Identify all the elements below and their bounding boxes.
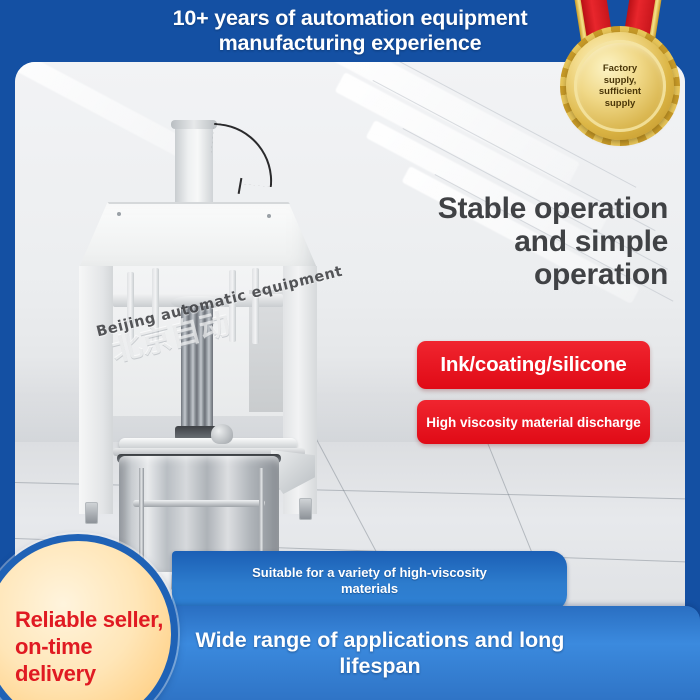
hood-bolt xyxy=(267,214,271,218)
main-headline: Stable operation and simple operation xyxy=(398,192,668,291)
machine-mast-cap xyxy=(171,120,217,129)
discharge-valve xyxy=(211,424,233,444)
machine-mast xyxy=(175,120,213,208)
panel-suitable-materials: Suitable for a variety of high-viscosity… xyxy=(172,551,567,611)
control-box xyxy=(299,498,312,520)
machine-column-left xyxy=(79,266,113,514)
medal-label: Factory supply, sufficient supply xyxy=(582,63,658,109)
gold-medal-badge: Factory supply, sufficient supply xyxy=(550,0,686,158)
guide-rod xyxy=(252,268,259,344)
hood-bolt xyxy=(117,212,121,216)
power-cable xyxy=(208,123,278,187)
reliable-seller-badge-text: Reliable seller, on-time delivery xyxy=(0,582,171,687)
feature-pill-discharge[interactable]: High viscosity material discharge xyxy=(417,400,650,444)
machine-hood xyxy=(79,202,317,268)
press-machine-illustration xyxy=(53,120,353,580)
feature-pill-materials[interactable]: Ink/coating/silicone xyxy=(417,341,650,389)
top-headline-text: 10+ years of automation equipment manufa… xyxy=(135,6,565,56)
drum-band xyxy=(133,500,265,507)
medal-face: Factory supply, sufficient supply xyxy=(582,48,658,124)
control-box xyxy=(85,502,98,524)
panel-suitable-materials-text: Suitable for a variety of high-viscosity… xyxy=(225,565,515,597)
promo-poster: 北京自动 Beijing automatic equipment 10+ yea… xyxy=(0,0,700,700)
panel-wide-applications-text: Wide range of applications and long life… xyxy=(120,627,580,679)
